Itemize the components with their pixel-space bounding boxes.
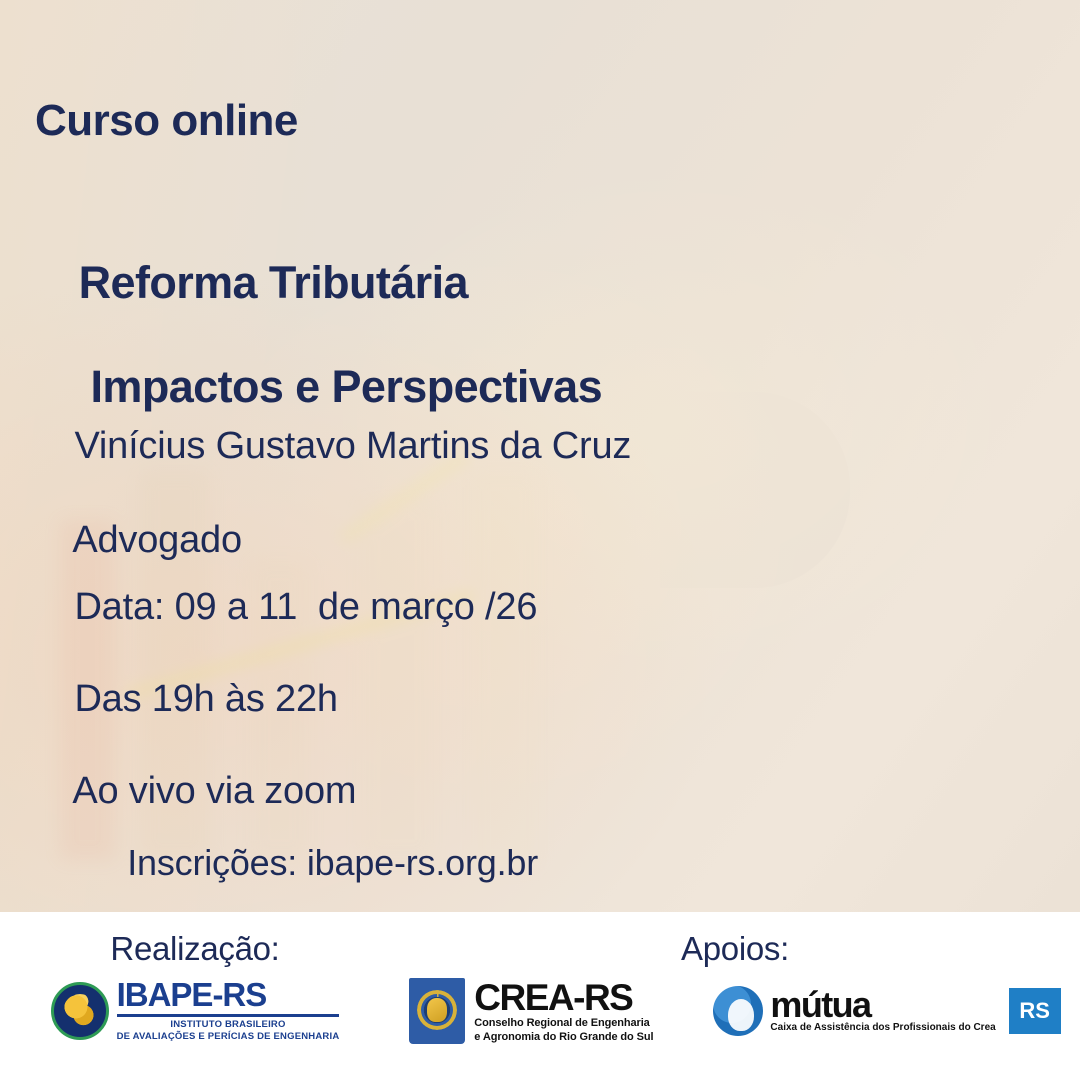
event-time: Das 19h às 22h [74,678,337,720]
mutua-wordmark: mútua [770,988,995,1022]
ibape-tagline-line-1: INSTITUTO BRASILEIRO [117,1019,340,1031]
ibape-tagline-line-2: DE AVALIAÇÕES E PERÍCIAS DE ENGENHARIA [117,1031,340,1043]
crea-wordmark: CREA-RS [474,979,653,1016]
kicker-label: Curso online [35,96,298,146]
crea-rs-logo[interactable]: CREA-RS Conselho Regional de Engenharia … [409,978,653,1044]
apoios-label: Apoios: [681,930,789,968]
ibape-rs-logo[interactable]: IBAPE-RS INSTITUTO BRASILEIRO DE AVALIAÇ… [51,978,340,1043]
signup-url[interactable]: Inscrições: ibape-rs.org.br [127,842,538,883]
ibape-wordmark-group: IBAPE-RS INSTITUTO BRASILEIRO DE AVALIAÇ… [117,978,340,1043]
ibape-divider [117,1014,340,1017]
mutua-rs-logo[interactable]: mútua Caixa de Assistência dos Profissio… [713,986,1060,1036]
mutua-wordmark-group: mútua Caixa de Assistência dos Profissio… [770,988,995,1034]
realizacao-column: Realização: IBAPE-RS INSTITUTO BRASILEIR… [0,912,390,1080]
crea-wordmark-group: CREA-RS Conselho Regional de Engenharia … [474,979,653,1044]
footer-bar: Realização: IBAPE-RS INSTITUTO BRASILEIR… [0,912,1080,1080]
apoios-column: Apoios: CREA-RS Conselho Regional de Eng… [390,912,1080,1080]
event-date: Data: 09 a 11 de março /26 [74,586,537,628]
apoios-logos: CREA-RS Conselho Regional de Engenharia … [409,978,1060,1044]
realizacao-logos: IBAPE-RS INSTITUTO BRASILEIRO DE AVALIAÇ… [51,978,340,1043]
speaker-name: Vinícius Gustavo Martins da Cruz [74,425,631,467]
beige-panel-bulge [660,392,850,588]
crea-tagline-line-2: e Agronomia do Rio Grande do Sul [474,1030,653,1044]
crea-shield-icon [409,978,465,1044]
realizacao-label: Realização: [110,930,279,968]
ibape-wordmark: IBAPE-RS [117,978,340,1011]
title-line-1: Reforma Tributária [79,257,468,308]
poster-canvas: 11683 12419 13002 70.03 +0.64 % GR 164 4… [0,0,1080,1080]
ibape-seal-icon [51,982,109,1040]
mutua-head-gear-icon [713,986,763,1036]
mutua-rs-badge: RS [1009,988,1061,1034]
crea-tagline-line-1: Conselho Regional de Engenharia [474,1016,653,1030]
